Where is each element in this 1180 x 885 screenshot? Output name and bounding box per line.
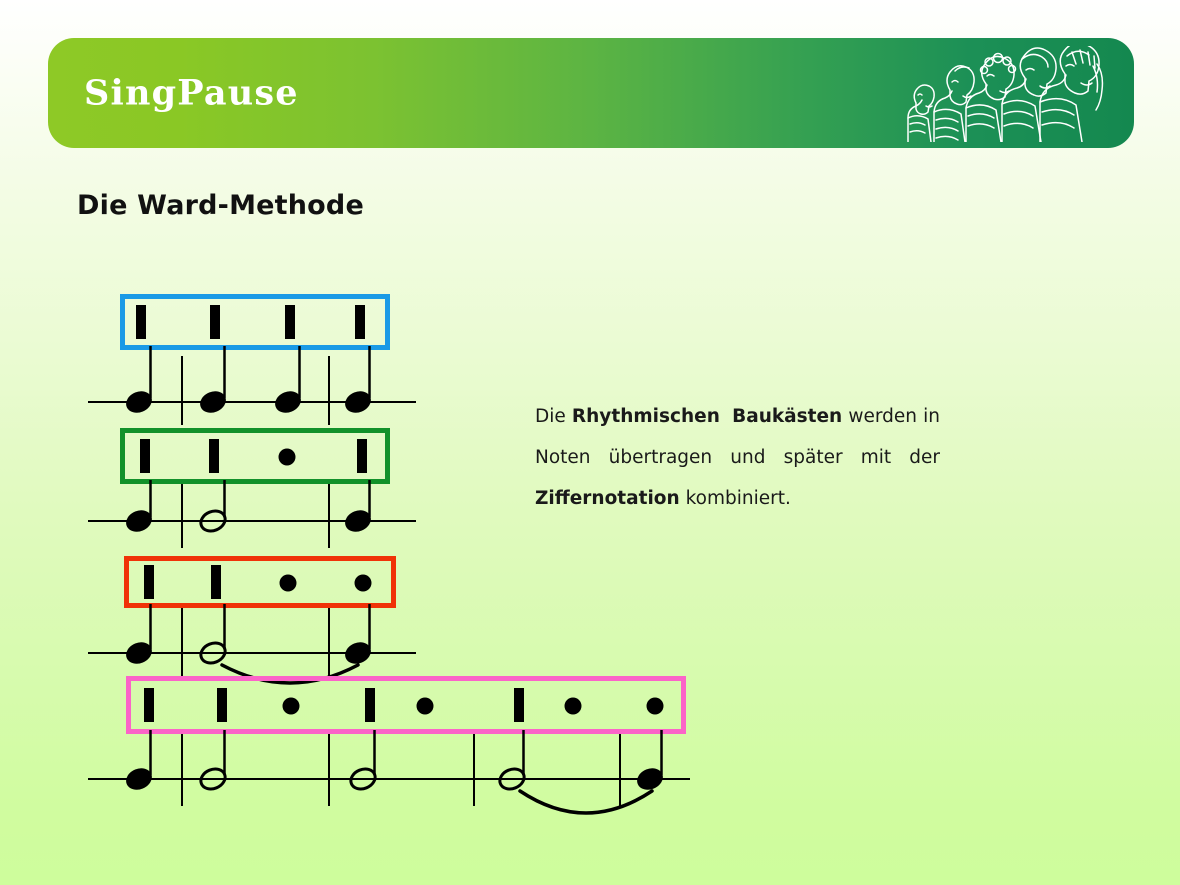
beat-bar-icon — [211, 565, 221, 599]
body-text-plain-1: Die — [535, 406, 572, 427]
beat-bar-icon — [514, 688, 524, 722]
body-text-plain-2: werden — [842, 406, 917, 427]
notation-row — [88, 679, 690, 814]
body-text-bold-baukaesten: Baukästen — [732, 406, 842, 427]
half-notehead — [198, 640, 228, 667]
quarter-notehead — [124, 640, 154, 667]
pattern-box — [127, 559, 394, 606]
quarter-notehead — [124, 766, 154, 793]
half-notehead — [198, 766, 228, 793]
tie-slur — [520, 791, 652, 813]
beat-dot-icon — [647, 698, 664, 715]
body-text-bold-ziffernotation: Ziffernotation — [535, 488, 680, 509]
quarter-notehead — [198, 389, 228, 416]
brand-title: SingPause — [84, 73, 299, 114]
quarter-notehead — [124, 389, 154, 416]
beat-bar-icon — [365, 688, 375, 722]
beat-bar-icon — [217, 688, 227, 722]
body-text-line3-plain: kombiniert. — [680, 488, 791, 509]
pattern-box — [123, 431, 388, 482]
notation-row — [88, 559, 416, 684]
beat-dot-icon — [417, 698, 434, 715]
half-notehead — [198, 508, 228, 535]
beat-bar-icon — [209, 439, 219, 473]
quarter-notehead — [343, 389, 373, 416]
body-paragraph: Die Rhythmischen Baukästen werden in Not… — [535, 396, 940, 519]
quarter-notehead — [343, 508, 373, 535]
notation-row — [88, 297, 416, 426]
pattern-box — [123, 297, 388, 348]
beat-bar-icon — [140, 439, 150, 473]
header-bar: SingPause — [48, 38, 1134, 148]
beat-dot-icon — [565, 698, 582, 715]
beat-dot-icon — [283, 698, 300, 715]
singing-children-outline-logo — [894, 46, 1104, 142]
beat-bar-icon — [136, 305, 146, 339]
half-notehead — [348, 766, 378, 793]
beat-dot-icon — [279, 449, 296, 466]
half-notehead — [497, 766, 527, 793]
notation-row — [88, 431, 416, 549]
beat-dot-icon — [355, 575, 372, 592]
beat-dot-icon — [280, 575, 297, 592]
beat-bar-icon — [285, 305, 295, 339]
page-title: Die Ward-Methode — [77, 190, 364, 221]
quarter-notehead — [343, 640, 373, 667]
beat-bar-icon — [210, 305, 220, 339]
beat-bar-icon — [355, 305, 365, 339]
beat-bar-icon — [357, 439, 367, 473]
quarter-notehead — [124, 508, 154, 535]
tie-slur — [222, 665, 358, 683]
pattern-box — [129, 679, 684, 732]
quarter-notehead — [273, 389, 303, 416]
slide: SingPause — [0, 0, 1180, 885]
quarter-notehead — [635, 766, 665, 793]
beat-bar-icon — [144, 565, 154, 599]
beat-bar-icon — [144, 688, 154, 722]
body-text-bold-rhythmischen: Rhythmischen — [572, 406, 720, 427]
